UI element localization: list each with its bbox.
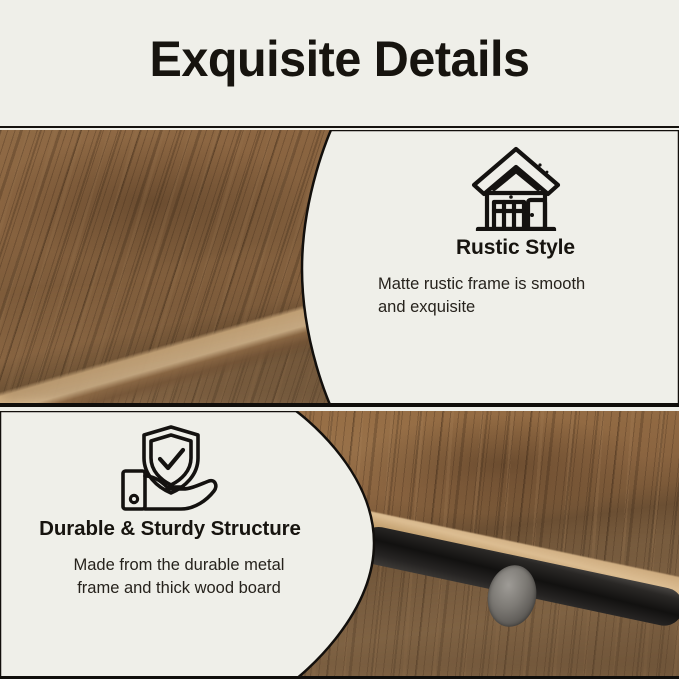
content-bottom: Durable & Sturdy Structure Made from the… (0, 411, 340, 679)
header-band: Exquisite Details (0, 0, 679, 128)
feature-body-line-2: and exquisite (378, 296, 679, 319)
feature-body-line-2: frame and thick wood board (18, 577, 340, 600)
feature-body-rustic-style: Matte rustic frame is smooth and exquisi… (352, 273, 679, 320)
feature-heading-durable-structure: Durable & Sturdy Structure (0, 517, 340, 541)
page-title: Exquisite Details (10, 30, 669, 88)
feature-body-line-1: Made from the durable metal (18, 554, 340, 577)
feature-body-durable-structure: Made from the durable metal frame and th… (0, 554, 340, 601)
feature-rustic-style: Rustic Style Matte rustic frame is smoot… (352, 142, 679, 320)
feature-durable-structure: Durable & Sturdy Structure Made from the… (0, 423, 340, 601)
hand-holding-shield-icon (0, 423, 340, 515)
panel-durable-sturdy-structure: Durable & Sturdy Structure Made from the… (0, 411, 679, 679)
feature-heading-rustic-style: Rustic Style (352, 236, 679, 260)
house-icon (352, 142, 679, 234)
infographic-page: Exquisite Details (0, 0, 679, 679)
feature-body-line-1: Matte rustic frame is smooth (378, 273, 679, 296)
panel-rustic-style: Rustic Style Matte rustic frame is smoot… (0, 130, 679, 407)
content-top: Rustic Style Matte rustic frame is smoot… (352, 130, 679, 407)
